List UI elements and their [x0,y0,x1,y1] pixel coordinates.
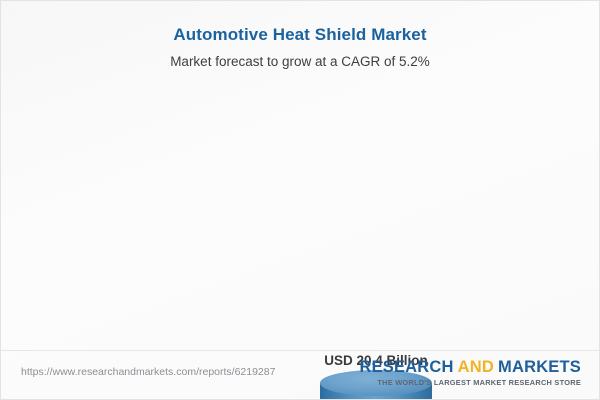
source-url[interactable]: https://www.researchandmarkets.com/repor… [21,366,275,378]
chart-subtitle: Market forecast to grow at a CAGR of 5.2… [1,54,599,69]
footer-divider [1,350,599,351]
brand-logo[interactable]: RESEARCHANDMARKETS THE WORLD'S LARGEST M… [359,359,581,387]
logo-word-and: AND [458,358,494,376]
logo-tagline: THE WORLD'S LARGEST MARKET RESEARCH STOR… [359,378,581,387]
logo-word-markets: MARKETS [498,358,581,376]
plot-area: USD 12.5 Billion 2025 USD 20.4 Billion [1,79,600,341]
chart-figure: Automotive Heat Shield Market Market for… [0,0,600,400]
logo-wordmark: RESEARCHANDMARKETS [359,359,581,376]
chart-title: Automotive Heat Shield Market [1,25,599,45]
logo-word-research: RESEARCH [359,358,453,376]
